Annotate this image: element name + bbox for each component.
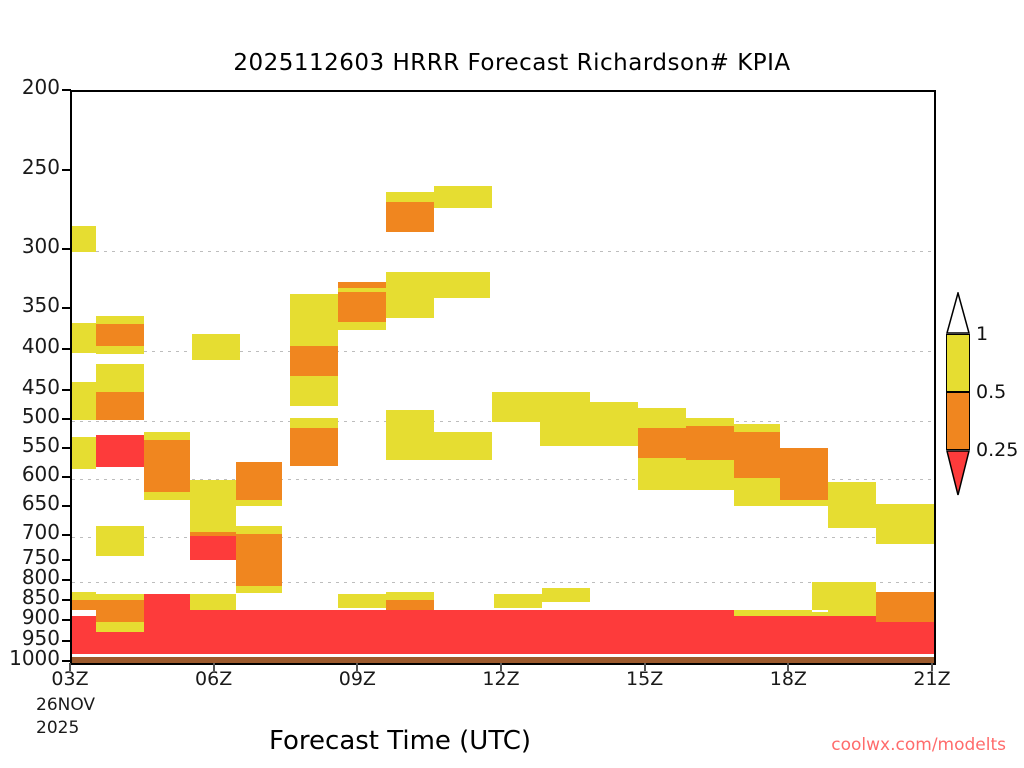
x-axis-tick-mark — [931, 663, 933, 671]
heatmap-cell — [290, 346, 338, 376]
heatmap-cell — [290, 294, 338, 306]
heatmap-cell — [386, 592, 434, 600]
heatmap-cell — [494, 594, 542, 608]
heatmap-cell — [386, 202, 434, 232]
heatmap-cell — [236, 462, 282, 502]
colorbar-segments — [946, 334, 970, 450]
legend-colorbar: 10.50.25 — [938, 292, 1024, 482]
heatmap-cell — [72, 226, 96, 252]
heatmap-cell — [144, 492, 190, 500]
y-axis-tick-label: 600 — [0, 464, 62, 484]
heatmap-cell — [638, 428, 686, 458]
y-axis-tick-label: 500 — [0, 406, 62, 426]
x-axis-tick-mark — [787, 663, 789, 671]
y-axis-tick: 550 — [0, 435, 62, 455]
heatmap-cell — [72, 437, 96, 469]
y-axis-tick: 300 — [0, 236, 62, 256]
x-axis-tick-mark — [500, 663, 502, 671]
colorbar-tick-label: 0.5 — [976, 381, 1006, 403]
heatmap-cell — [72, 323, 96, 353]
colorbar-tick-label: 0.25 — [976, 439, 1018, 461]
heatmap-cell — [72, 600, 96, 610]
y-axis-tick: 850 — [0, 587, 62, 607]
heatmap-cell — [338, 322, 386, 330]
x-axis-tick-mark — [356, 663, 358, 671]
y-axis: 2002503003504004505005506006507007508008… — [0, 0, 70, 768]
y-axis-tick: 750 — [0, 547, 62, 567]
y-axis-tick-label: 750 — [0, 547, 62, 567]
gridline — [72, 582, 934, 583]
watermark-link[interactable]: coolwx.com/modelts — [831, 735, 1006, 755]
heatmap-cell — [686, 460, 734, 490]
heatmap-cell — [144, 440, 190, 492]
y-axis-tick: 600 — [0, 464, 62, 484]
y-axis-tick: 500 — [0, 406, 62, 426]
y-axis-tick-label: 850 — [0, 587, 62, 607]
heatmap-cell — [96, 392, 144, 420]
x-axis-tick-label: 18Z — [770, 668, 807, 690]
heatmap-cell — [876, 622, 934, 658]
heatmap-cell — [72, 382, 96, 412]
y-axis-tick-label: 450 — [0, 377, 62, 397]
x-axis-tick-label: 12Z — [482, 668, 519, 690]
plot-area — [70, 90, 936, 665]
y-axis-tick: 700 — [0, 522, 62, 542]
heatmap-cell — [734, 478, 780, 506]
heatmap-cell — [780, 448, 828, 500]
y-axis-tick: 250 — [0, 157, 62, 177]
heatmap-cell — [338, 288, 386, 292]
y-axis-tick: 650 — [0, 493, 62, 513]
heatmap-cell — [236, 586, 282, 593]
heatmap-cell — [876, 592, 934, 610]
y-axis-tick: 200 — [0, 77, 62, 97]
heatmap-cell — [190, 536, 236, 560]
heatmap-cell — [290, 428, 338, 466]
x-axis-tick-mark — [213, 663, 215, 671]
heatmap-cell — [72, 592, 96, 600]
y-axis-tick-label: 550 — [0, 435, 62, 455]
x-axis-date-line: 26NOV — [36, 694, 95, 717]
heatmap-cell — [190, 480, 236, 532]
heatmap-cell — [542, 588, 590, 602]
y-axis-tick-label: 650 — [0, 493, 62, 513]
y-axis-tick: 1000 — [0, 648, 62, 668]
colorbar-top-arrow-icon — [946, 292, 970, 334]
heatmap-cell — [96, 316, 144, 324]
heatmap-cell — [96, 622, 144, 632]
heatmap-cell — [96, 324, 144, 346]
x-axis-tick-label: 21Z — [913, 668, 950, 690]
heatmap-cell — [876, 504, 934, 544]
heatmap-cell — [96, 435, 144, 467]
chart-canvas: 2025112603 HRRR Forecast Richardson# KPI… — [0, 0, 1024, 768]
y-axis-tick: 450 — [0, 377, 62, 397]
y-axis-tick: 350 — [0, 295, 62, 315]
heatmap-cell — [434, 186, 492, 208]
heatmap-cell — [686, 422, 734, 460]
x-axis-tick-label: 09Z — [339, 668, 376, 690]
heatmap-cell — [290, 376, 338, 406]
heatmap-cell — [780, 500, 828, 506]
colorbar-tick-label: 1 — [976, 323, 988, 345]
y-axis-tick-label: 700 — [0, 522, 62, 542]
colorbar-segment — [946, 392, 970, 450]
heatmap-cell — [434, 432, 492, 460]
heatmap-cell — [290, 418, 338, 428]
heatmap-cells-container — [72, 92, 934, 663]
colorbar-segment — [946, 334, 970, 392]
heatmap-cell — [236, 500, 282, 506]
heatmap-cell — [638, 464, 686, 490]
x-axis-title: Forecast Time (UTC) — [0, 726, 800, 756]
heatmap-cell — [72, 410, 96, 420]
y-axis-tick: 950 — [0, 628, 62, 648]
heatmap-cell — [236, 534, 282, 586]
y-axis-tick-label: 400 — [0, 336, 62, 356]
heatmap-cell — [386, 272, 490, 298]
y-axis-tick-label: 1000 — [0, 648, 62, 668]
heatmap-cell — [190, 610, 382, 656]
heatmap-cell — [72, 616, 96, 656]
x-axis-tick-label: 06Z — [195, 668, 232, 690]
heatmap-cell — [144, 594, 190, 616]
heatmap-cell — [386, 410, 434, 460]
heatmap-cell — [590, 402, 638, 422]
chart-title: 2025112603 HRRR Forecast Richardson# KPI… — [0, 50, 1024, 76]
x-axis-tick-mark — [644, 663, 646, 671]
y-axis-tick-label: 250 — [0, 157, 62, 177]
x-axis-tick-label: 15Z — [626, 668, 663, 690]
heatmap-cell — [96, 346, 144, 354]
x-axis-tick-mark — [69, 663, 71, 671]
y-axis-tick-label: 900 — [0, 607, 62, 627]
heatmap-cell — [338, 594, 386, 608]
heatmap-cell — [96, 526, 144, 556]
y-axis-tick-label: 350 — [0, 295, 62, 315]
heatmap-cell — [828, 482, 876, 528]
heatmap-cell — [96, 632, 144, 656]
y-axis-tick-label: 200 — [0, 77, 62, 97]
gridline — [72, 251, 934, 252]
heatmap-cell — [72, 657, 934, 665]
y-axis-tick: 400 — [0, 336, 62, 356]
y-axis-tick-label: 800 — [0, 567, 62, 587]
heatmap-cell — [192, 334, 240, 360]
heatmap-cell — [686, 418, 734, 426]
y-axis-tick: 900 — [0, 607, 62, 627]
heatmap-cell — [540, 420, 638, 446]
heatmap-cell — [382, 610, 734, 658]
heatmap-cell — [96, 600, 144, 622]
heatmap-cell — [144, 616, 190, 656]
heatmap-cell — [734, 616, 876, 658]
colorbar-bottom-arrow-icon — [946, 450, 970, 496]
heatmap-cell — [638, 408, 686, 428]
heatmap-cell — [144, 432, 190, 440]
heatmap-cell — [386, 192, 434, 202]
heatmap-cell — [734, 424, 780, 432]
heatmap-cell — [876, 610, 934, 622]
heatmap-cell — [236, 526, 282, 534]
heatmap-cell — [492, 392, 590, 422]
heatmap-cell — [96, 594, 144, 600]
y-axis-tick: 800 — [0, 567, 62, 587]
heatmap-cell — [734, 432, 780, 478]
heatmap-cell — [290, 304, 338, 346]
heatmap-cell — [812, 582, 876, 610]
x-axis-tick-label: 03Z — [51, 668, 88, 690]
y-axis-tick-label: 300 — [0, 236, 62, 256]
y-axis-tick-label: 950 — [0, 628, 62, 648]
